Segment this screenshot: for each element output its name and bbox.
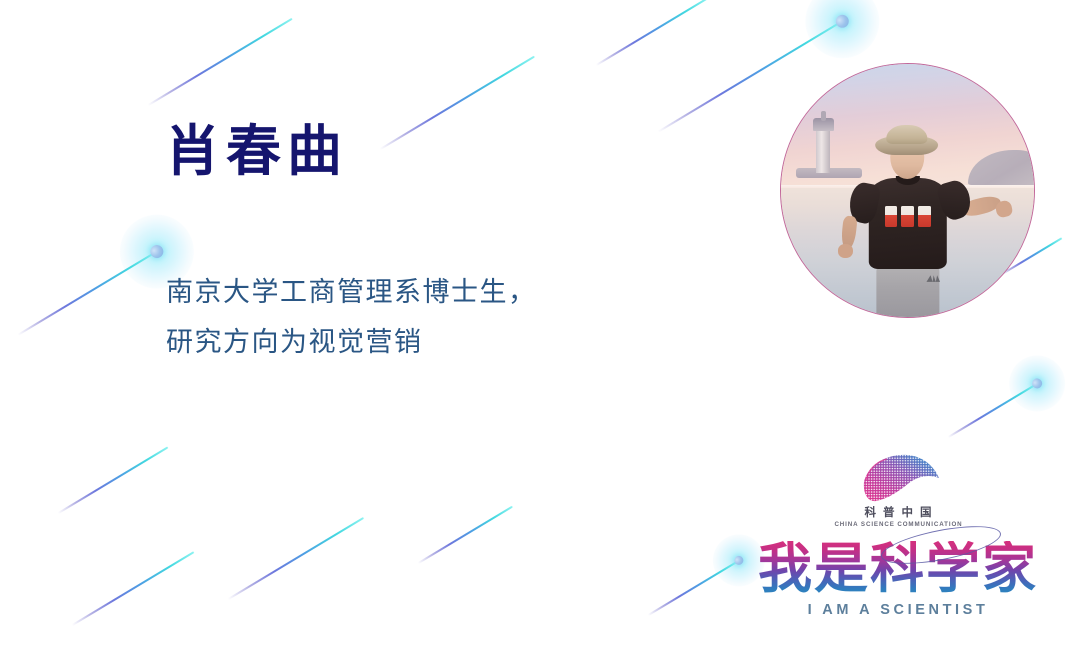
comet-head-dot <box>148 243 166 261</box>
comet-tail <box>228 517 364 600</box>
tshirt-graphic-1 <box>885 206 898 227</box>
tshirt-graphic-2 <box>901 206 914 227</box>
comet-tail <box>58 446 168 513</box>
bucket-hat-crown <box>886 125 928 144</box>
speaker-affiliation: 南京大学工商管理系博士生， 研究方向为视觉营销 <box>166 268 537 368</box>
comet-decoration-7 <box>68 546 197 631</box>
comet-head-dot <box>833 12 851 30</box>
lighthouse-cap <box>821 111 826 121</box>
comet-decoration-10 <box>644 554 742 621</box>
affiliation-line-2: 研究方向为视觉营销 <box>166 318 537 368</box>
comet-decoration-5 <box>14 246 160 341</box>
comet-tail <box>72 551 194 625</box>
comet-decoration-4 <box>592 0 711 71</box>
kepu-china-english: CHINA SCIENCE COMMUNICATION <box>748 521 1048 528</box>
comet-decoration-9 <box>414 500 515 569</box>
comet-head-dot <box>1030 377 1044 391</box>
comet-decoration-1 <box>144 12 295 111</box>
comet-tail <box>948 383 1038 438</box>
comet-tail <box>17 251 157 336</box>
comet-decoration-6 <box>54 441 171 519</box>
speaker-portrait <box>780 63 1035 318</box>
comet-tail <box>648 560 740 616</box>
person-left-hand <box>838 244 853 258</box>
speaker-name: 肖春曲 <box>165 123 348 181</box>
affiliation-line-1: 南京大学工商管理系博士生， <box>166 268 537 318</box>
comet-decoration-8 <box>224 512 367 605</box>
brand-lockup: 科普中国 CHINA SCIENCE COMMUNICATION 我是科学家 I… <box>748 452 1048 618</box>
comet-tail <box>418 506 513 564</box>
comet-head-dot <box>733 554 745 566</box>
portrait-circle-frame <box>780 63 1035 318</box>
program-title-chinese: 我是科学家 <box>748 541 1048 597</box>
person-shorts <box>876 264 939 317</box>
comet-tail <box>380 56 535 150</box>
tshirt-graphic-3 <box>918 206 931 227</box>
comet-tail <box>596 0 708 66</box>
comet-glow <box>999 345 1076 422</box>
comet-tail <box>148 18 293 106</box>
kepu-china-chinese: 科普中国 <box>748 507 1048 520</box>
comet-decoration-2 <box>376 50 538 155</box>
comet-decoration-11 <box>944 377 1040 443</box>
slide-canvas: 肖春曲 南京大学工商管理系博士生， 研究方向为视觉营销 <box>0 0 1080 656</box>
comet-glow <box>792 0 894 72</box>
lighthouse-tower <box>816 127 830 173</box>
china-science-communication-wing-mark <box>855 452 941 504</box>
program-title-english: I AM A SCIENTIST <box>748 602 1048 618</box>
